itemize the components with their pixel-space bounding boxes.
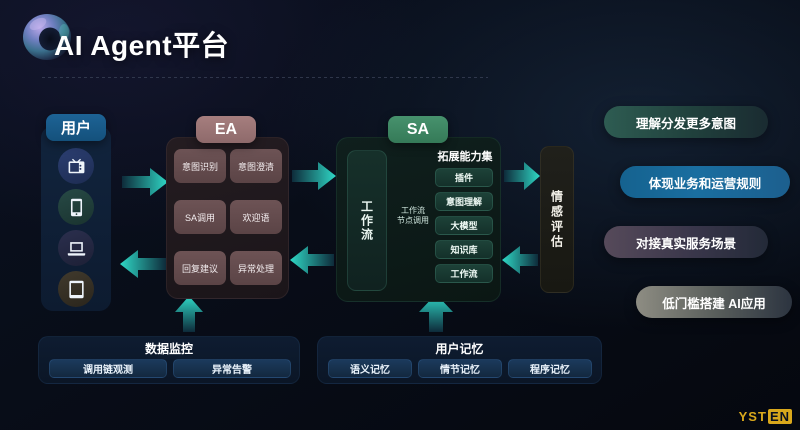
workflow-node-call-label: 工作流 节点调用 <box>391 206 435 226</box>
pill-real-service-scenarios[interactable]: 对接真实服务场景 <box>604 226 768 258</box>
data-monitoring-panel: 数据监控 调用链观测 异常告警 <box>38 336 300 384</box>
arrow-ea-to-user <box>120 250 166 278</box>
emotion-evaluation-label: 情感评估 <box>549 190 566 250</box>
sa-cap: SA <box>388 116 448 143</box>
workflow-column[interactable]: 工作流 <box>347 150 387 291</box>
data-monitoring-title: 数据监控 <box>39 340 299 357</box>
user-memory-title: 用户记忆 <box>318 340 601 357</box>
memory-chip-procedural[interactable]: 程序记忆 <box>508 359 592 378</box>
user-memory-panel: 用户记忆 语义记忆 情节记忆 程序记忆 <box>317 336 602 384</box>
laptop-icon[interactable] <box>58 230 94 266</box>
memory-chip-episodic[interactable]: 情节记忆 <box>418 359 502 378</box>
ea-chip-intent-clarification[interactable]: 意图澄清 <box>230 149 282 183</box>
arrow-monitoring-to-ea <box>175 296 203 332</box>
ability-chip-plugin[interactable]: 插件 <box>435 168 493 187</box>
user-column-cap: 用户 <box>46 114 106 141</box>
ea-chip-intent-recognition[interactable]: 意图识别 <box>174 149 226 183</box>
arrow-ea-to-sa <box>292 162 336 190</box>
ea-chip-sa-call[interactable]: SA调用 <box>174 200 226 234</box>
ea-panel: 意图识别 意图澄清 SA调用 欢迎语 回复建议 异常处理 <box>166 137 289 299</box>
arrow-emotion-to-sa <box>502 246 538 274</box>
header-divider <box>42 77 488 78</box>
ea-cap: EA <box>196 116 256 143</box>
tv-icon[interactable] <box>58 148 94 184</box>
page-title: AI Agent平台 <box>54 24 229 64</box>
workflow-node-call-line2: 节点调用 <box>391 216 435 226</box>
ability-chip-workflow[interactable]: 工作流 <box>435 264 493 283</box>
workflow-node-call-line1: 工作流 <box>391 206 435 216</box>
ability-chip-large-model[interactable]: 大模型 <box>435 216 493 235</box>
arrow-sa-to-ea <box>290 246 334 274</box>
workflow-label: 工作流 <box>359 200 376 242</box>
pill-business-rules[interactable]: 体现业务和运营规则 <box>620 166 790 198</box>
ysten-watermark: YST EN <box>739 409 792 424</box>
ea-chip-reply-suggestion[interactable]: 回复建议 <box>174 251 226 285</box>
pill-low-threshold-ai-apps[interactable]: 低门槛搭建 AI应用 <box>636 286 792 318</box>
monitoring-chip-trace[interactable]: 调用链观测 <box>49 359 167 378</box>
ability-set-title: 拓展能力集 <box>435 148 495 164</box>
ability-chip-knowledge-base[interactable]: 知识库 <box>435 240 493 259</box>
ea-chip-exception-handling[interactable]: 异常处理 <box>230 251 282 285</box>
user-column-panel <box>41 126 111 311</box>
slide-canvas: AI Agent平台 <box>0 0 800 430</box>
emotion-evaluation-panel[interactable]: 情感评估 <box>540 146 574 293</box>
watermark-text: YST <box>739 409 767 424</box>
phone-icon[interactable] <box>58 189 94 225</box>
ability-chip-intent-understanding[interactable]: 意图理解 <box>435 192 493 211</box>
arrow-user-to-ea <box>122 168 168 196</box>
memory-chip-semantic[interactable]: 语义记忆 <box>328 359 412 378</box>
watermark-boxed-text: EN <box>768 409 792 424</box>
ea-chip-welcome[interactable]: 欢迎语 <box>230 200 282 234</box>
arrow-sa-to-emotion <box>504 162 540 190</box>
monitoring-chip-alert[interactable]: 异常告警 <box>173 359 291 378</box>
tablet-icon[interactable] <box>58 271 94 307</box>
pill-understand-intents[interactable]: 理解分发更多意图 <box>604 106 768 138</box>
sa-panel: 工作流 工作流 节点调用 拓展能力集 插件 意图理解 大模型 知识库 工作流 <box>336 137 501 302</box>
